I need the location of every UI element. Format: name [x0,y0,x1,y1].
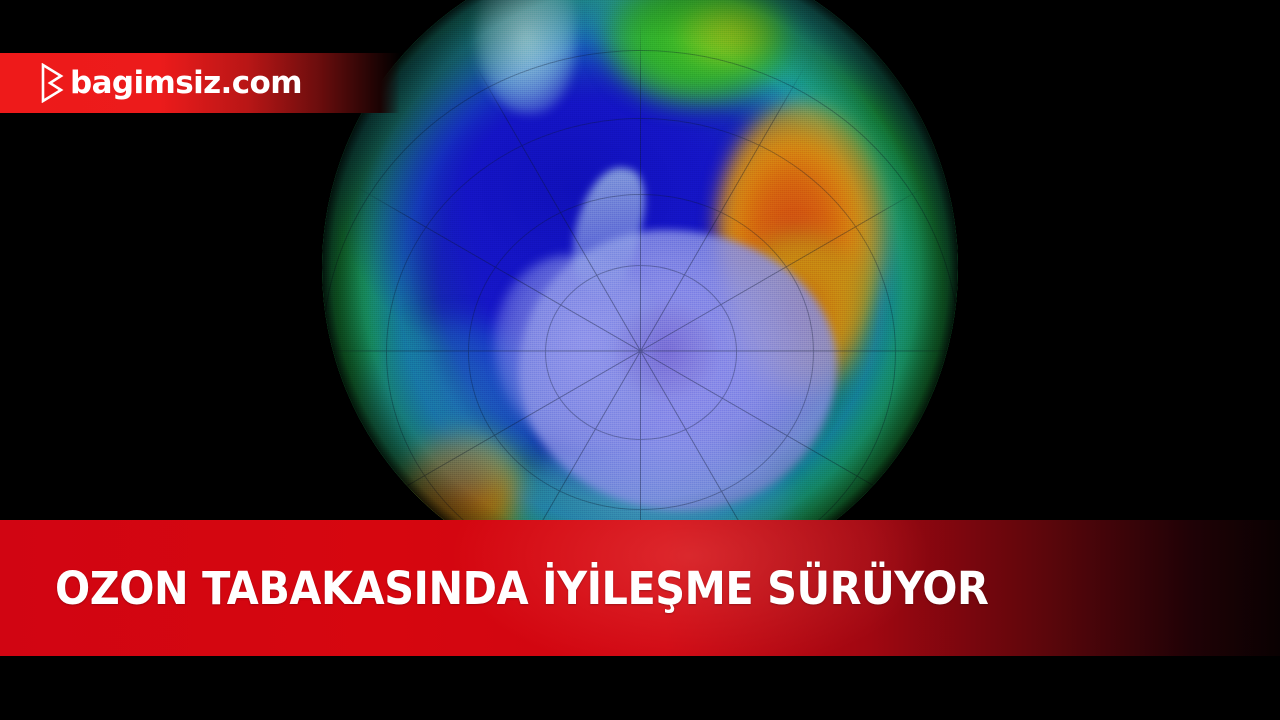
headline-banner: OZON TABAKASINDA İYİLEŞME SÜRÜYOR [0,520,1280,656]
headline-title: OZON TABAKASINDA İYİLEŞME SÜRÜYOR [55,566,988,611]
site-logo-text: bagimsiz.com [70,68,302,99]
screenshot-root: bagimsiz.com OZON TABAKASINDA İYİLEŞME S… [0,0,1280,720]
site-logo-bar[interactable]: bagimsiz.com [0,53,400,113]
chevron-bracket-logo-icon [40,63,64,103]
globe-container [322,0,958,588]
ozone-globe [322,0,958,588]
